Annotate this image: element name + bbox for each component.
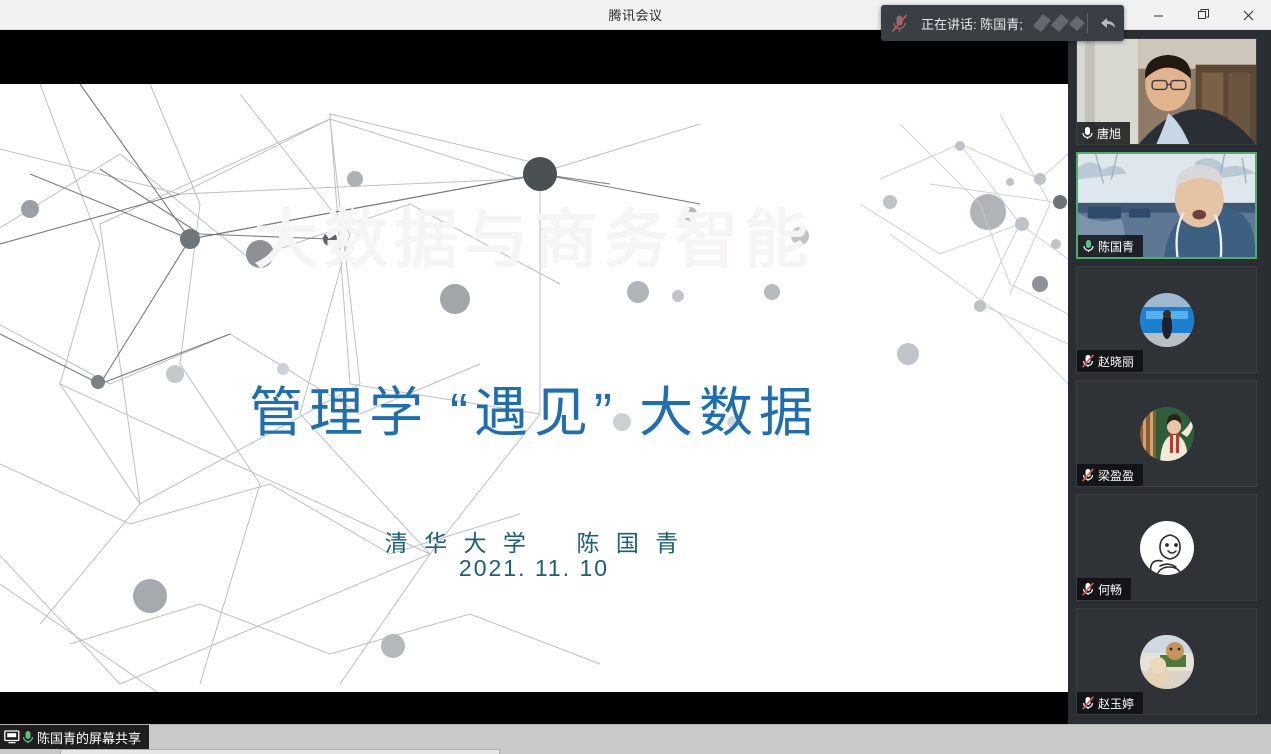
slide-presenter: 清 华 大 学 陈 国 青 [0, 524, 1068, 558]
participant-name: 唐旭 [1097, 125, 1121, 142]
speaking-status-text: 正在讲话: 陈国青; [917, 14, 1023, 33]
slide-date: 2021. 11. 10 [0, 555, 1068, 582]
participant-name-chip: 何畅 [1077, 578, 1131, 600]
restore-icon [1198, 9, 1210, 21]
meeting-window: 腾讯会议 [0, 0, 1271, 754]
avatar [1140, 407, 1194, 461]
taskbar-window-strip[interactable] [60, 749, 500, 754]
participant-name-chip: 唐旭 [1077, 122, 1130, 144]
restore-button[interactable] [1181, 0, 1226, 30]
close-button[interactable] [1226, 0, 1271, 30]
toolbar-mic-button[interactable] [881, 5, 917, 41]
presentation-slide: 大数据与商务智能 管理学 “遇见” 大数据 清 华 大 学 陈 国 青 2021… [0, 84, 1068, 692]
participant-name-chip: 赵玉婷 [1077, 692, 1143, 714]
participant-name-chip: 陈国青 [1078, 235, 1143, 257]
participant-name: 梁盈盈 [1098, 467, 1134, 484]
window-title: 腾讯会议 [608, 5, 662, 24]
minimize-icon [1153, 10, 1164, 21]
tencent-meeting-logo-icon [1023, 5, 1087, 41]
slide-title: 管理学 “遇见” 大数据 [0, 368, 1068, 447]
participant-tile[interactable]: 梁盈盈 [1076, 380, 1257, 487]
participant-tile[interactable]: 赵晓丽 [1076, 266, 1257, 373]
participant-tile[interactable]: 赵玉婷 [1076, 608, 1257, 715]
share-status-text: 陈国青的屏幕共享 [37, 728, 141, 747]
mic-on-icon [1082, 126, 1093, 140]
participant-name-chip: 梁盈盈 [1077, 464, 1143, 486]
mic-muted-icon [1082, 468, 1094, 482]
slide-watermark: 大数据与商务智能 [0, 189, 1068, 281]
mic-muted-icon [1082, 582, 1094, 596]
restore-arrow-icon [1099, 15, 1117, 31]
stage-letterbox-bottom [0, 692, 1068, 724]
participant-name: 陈国青 [1098, 238, 1134, 255]
restore-meeting-button[interactable] [1088, 5, 1124, 41]
close-icon [1243, 10, 1254, 21]
participant-name: 赵玉婷 [1098, 695, 1134, 712]
participant-name: 赵晓丽 [1098, 353, 1134, 370]
avatar [1140, 293, 1194, 347]
participant-tile-active-speaker[interactable]: 陈国青 [1076, 152, 1257, 259]
screen-share-status[interactable]: 陈国青的屏幕共享 [0, 725, 149, 749]
mic-muted-icon [1082, 354, 1094, 368]
avatar [1140, 521, 1194, 575]
shared-screen-stage: 大数据与商务智能 管理学 “遇见” 大数据 清 华 大 学 陈 国 青 2021… [0, 30, 1068, 724]
minimize-button[interactable] [1136, 0, 1181, 30]
mic-muted-icon [891, 14, 908, 33]
monitor-share-icon [4, 730, 20, 744]
mic-on-green-icon [22, 730, 34, 744]
avatar [1140, 635, 1194, 689]
participant-sidebar[interactable]: 唐旭 [1068, 30, 1271, 754]
window-controls [1136, 0, 1271, 30]
speaking-toolbar[interactable]: 正在讲话: 陈国青; [881, 5, 1124, 41]
participant-name-chip: 赵晓丽 [1077, 350, 1143, 372]
mic-on-green-icon [1083, 239, 1094, 253]
participant-tile[interactable]: 何畅 [1076, 494, 1257, 601]
participant-tile[interactable]: 唐旭 [1076, 38, 1257, 145]
mic-muted-icon [1082, 696, 1094, 710]
participant-name: 何畅 [1098, 581, 1122, 598]
taskbar: 陈国青的屏幕共享 [0, 724, 1271, 754]
